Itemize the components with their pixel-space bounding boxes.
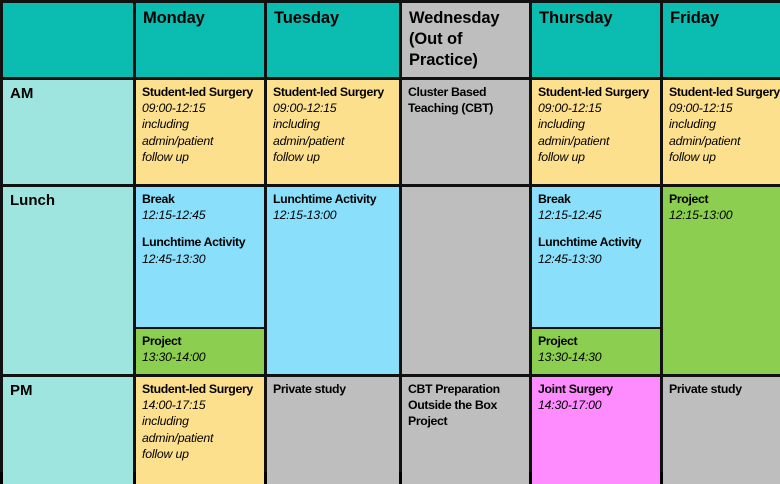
session-title: Project (538, 333, 656, 349)
session-detail-line: follow up (273, 149, 395, 165)
session-block: Joint Surgery 14:30-17:00 (538, 381, 656, 413)
cell-am-wednesday[interactable]: Cluster Based Teaching (CBT) (402, 80, 529, 184)
session-title: CBT Preparation Outside the Box Project (408, 381, 525, 430)
lunch-project-section[interactable]: Project 13:30-14:30 (532, 327, 660, 374)
session-detail: 09:00-12:15 including admin/patient foll… (273, 100, 395, 165)
session-block: Break 12:15-12:45 (142, 191, 260, 223)
session-detail: 09:00-12:15 including admin/patient foll… (142, 100, 260, 165)
session-title: Student-led Surgery (142, 84, 260, 100)
session-block: Student-led Surgery 09:00-12:15 includin… (538, 84, 656, 165)
session-time: 12:15-12:45 (538, 207, 656, 223)
cell-lunch-wednesday[interactable] (402, 187, 529, 374)
session-detail-line: including (142, 116, 260, 132)
session-title: Break (538, 191, 656, 207)
session-detail: 14:00-17:15 including admin/patient foll… (142, 397, 260, 462)
session-block: Lunchtime Activity 12:15-13:00 (273, 191, 395, 223)
session-detail-line: follow up (669, 149, 780, 165)
session-title: Cluster Based Teaching (CBT) (408, 84, 525, 116)
lunch-break-section[interactable]: Break 12:15-12:45 Lunchtime Activity 12:… (136, 187, 264, 327)
session-time: 13:30-14:00 (142, 349, 260, 365)
session-time: 12:45-13:30 (142, 251, 260, 267)
session-title: Student-led Surgery (273, 84, 395, 100)
session-detail-line: 09:00-12:15 (538, 100, 656, 116)
cell-am-tuesday[interactable]: Student-led Surgery 09:00-12:15 includin… (267, 80, 399, 184)
timetable-grid: Monday Tuesday Wednesday (Out of Practic… (0, 0, 780, 472)
cell-pm-wednesday[interactable]: CBT Preparation Outside the Box Project (402, 377, 529, 484)
session-title: Project (669, 191, 780, 207)
session-title: Lunchtime Activity (142, 234, 260, 250)
cell-am-friday[interactable]: Student-led Surgery 09:00-12:15 includin… (663, 80, 780, 184)
session-detail-line: admin/patient (142, 133, 260, 149)
session-detail-line: including (142, 413, 260, 429)
session-title: Joint Surgery (538, 381, 656, 397)
cell-lunch-friday[interactable]: Project 12:15-13:00 (663, 187, 780, 374)
session-block: Lunchtime Activity 12:45-13:30 (142, 234, 260, 266)
cell-lunch-thursday[interactable]: Break 12:15-12:45 Lunchtime Activity 12:… (532, 187, 660, 374)
session-block: Cluster Based Teaching (CBT) (408, 84, 525, 116)
session-block: Lunchtime Activity 12:45-13:30 (538, 234, 656, 266)
session-detail-line: follow up (142, 149, 260, 165)
cell-am-thursday[interactable]: Student-led Surgery 09:00-12:15 includin… (532, 80, 660, 184)
session-title: Break (142, 191, 260, 207)
session-title: Project (142, 333, 260, 349)
session-time: 12:15-13:00 (273, 207, 395, 223)
session-detail-line: 09:00-12:15 (669, 100, 780, 116)
session-block: Student-led Surgery 09:00-12:15 includin… (669, 84, 780, 165)
session-detail-line: follow up (538, 149, 656, 165)
session-title: Lunchtime Activity (538, 234, 656, 250)
session-detail-line: 14:00-17:15 (142, 397, 260, 413)
session-time: 12:15-13:00 (669, 207, 780, 223)
session-detail-line: admin/patient (669, 133, 780, 149)
header-day-thursday: Thursday (532, 3, 660, 77)
cell-lunch-tuesday[interactable]: Lunchtime Activity 12:15-13:00 (267, 187, 399, 374)
session-detail-line: follow up (142, 446, 260, 462)
session-title: Private study (669, 381, 780, 397)
cell-pm-tuesday[interactable]: Private study (267, 377, 399, 484)
header-day-tuesday: Tuesday (267, 3, 399, 77)
cell-lunch-monday[interactable]: Break 12:15-12:45 Lunchtime Activity 12:… (136, 187, 264, 374)
session-detail-line: 09:00-12:15 (142, 100, 260, 116)
header-day-monday: Monday (136, 3, 264, 77)
header-corner-cell (3, 3, 133, 77)
header-day-friday: Friday (663, 3, 780, 77)
cell-pm-thursday[interactable]: Joint Surgery 14:30-17:00 (532, 377, 660, 484)
session-detail-line: admin/patient (273, 133, 395, 149)
session-block: Student-led Surgery 14:00-17:15 includin… (142, 381, 260, 462)
session-time: 12:15-12:45 (142, 207, 260, 223)
session-title: Student-led Surgery (538, 84, 656, 100)
row-label-lunch: Lunch (3, 187, 133, 374)
session-title: Lunchtime Activity (273, 191, 395, 207)
session-block: Break 12:15-12:45 (538, 191, 656, 223)
session-time: 14:30-17:00 (538, 397, 656, 413)
session-detail-line: admin/patient (142, 430, 260, 446)
session-detail: 09:00-12:15 including admin/patient foll… (669, 100, 780, 165)
session-time: 12:45-13:30 (538, 251, 656, 267)
lunch-break-section[interactable]: Break 12:15-12:45 Lunchtime Activity 12:… (532, 187, 660, 327)
session-detail: 09:00-12:15 including admin/patient foll… (538, 100, 656, 165)
cell-pm-friday[interactable]: Private study (663, 377, 780, 484)
session-detail-line: 09:00-12:15 (273, 100, 395, 116)
session-block: Student-led Surgery 09:00-12:15 includin… (273, 84, 395, 165)
session-detail-line: including (273, 116, 395, 132)
session-time: 13:30-14:30 (538, 349, 656, 365)
session-detail-line: including (538, 116, 656, 132)
row-label-pm: PM (3, 377, 133, 484)
session-title: Private study (273, 381, 395, 397)
session-detail-line: admin/patient (538, 133, 656, 149)
header-day-wednesday: Wednesday (Out of Practice) (402, 3, 529, 77)
session-block: Student-led Surgery 09:00-12:15 includin… (142, 84, 260, 165)
cell-am-monday[interactable]: Student-led Surgery 09:00-12:15 includin… (136, 80, 264, 184)
lunch-project-section[interactable]: Project 13:30-14:00 (136, 327, 264, 374)
session-title: Student-led Surgery (142, 381, 260, 397)
session-block: Project 12:15-13:00 (669, 191, 780, 223)
session-title: Student-led Surgery (669, 84, 780, 100)
session-detail-line: including (669, 116, 780, 132)
cell-pm-monday[interactable]: Student-led Surgery 14:00-17:15 includin… (136, 377, 264, 484)
row-label-am: AM (3, 80, 133, 184)
